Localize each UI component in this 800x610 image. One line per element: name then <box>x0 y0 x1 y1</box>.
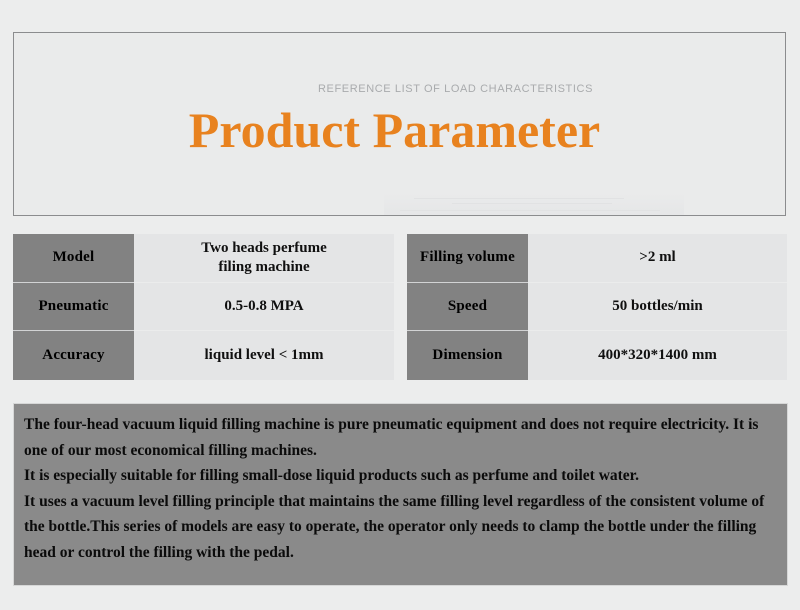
table-row: Model Two heads perfume filing machine <box>13 234 394 283</box>
banner-decoration-line <box>414 198 624 199</box>
spec-label-model: Model <box>13 234 134 283</box>
spec-table-left: Model Two heads perfume filing machine P… <box>13 234 394 380</box>
banner-inner: REFERENCE LIST OF LOAD CHARACTERISTICS P… <box>14 33 785 215</box>
spec-value-filling-volume: >2 ml <box>528 234 787 283</box>
spec-value-accuracy: liquid level < 1mm <box>134 331 394 380</box>
spec-value-model-line2: filing machine <box>201 258 327 277</box>
spec-label-speed: Speed <box>407 283 528 332</box>
description-paragraph-2: It is especially suitable for filling sm… <box>24 463 777 489</box>
banner-decoration-line <box>452 203 612 204</box>
table-row: Filling volume >2 ml <box>407 234 787 283</box>
spec-value-dimension: 400*320*1400 mm <box>528 331 787 380</box>
spec-label-accuracy: Accuracy <box>13 331 134 380</box>
banner-decoration-line <box>400 210 660 211</box>
table-row: Speed 50 bottles/min <box>407 283 787 332</box>
table-row: Accuracy liquid level < 1mm <box>13 331 394 380</box>
banner-subtitle: REFERENCE LIST OF LOAD CHARACTERISTICS <box>14 83 785 95</box>
product-description-box: The four-head vacuum liquid filling mach… <box>13 403 788 586</box>
spec-value-pneumatic: 0.5-0.8 MPA <box>134 283 394 332</box>
table-row: Dimension 400*320*1400 mm <box>407 331 787 380</box>
page-title: Product Parameter <box>14 103 785 158</box>
description-paragraph-1: The four-head vacuum liquid filling mach… <box>24 412 777 463</box>
spec-label-filling-volume: Filling volume <box>407 234 528 283</box>
spec-label-pneumatic: Pneumatic <box>13 283 134 332</box>
specifications-section: Model Two heads perfume filing machine P… <box>0 234 800 380</box>
banner-decoration-glow <box>384 193 684 216</box>
spec-table-right: Filling volume >2 ml Speed 50 bottles/mi… <box>407 234 787 380</box>
spec-value-model-line1: Two heads perfume <box>201 239 327 258</box>
product-parameter-banner: REFERENCE LIST OF LOAD CHARACTERISTICS P… <box>13 32 786 216</box>
table-row: Pneumatic 0.5-0.8 MPA <box>13 283 394 332</box>
spec-label-dimension: Dimension <box>407 331 528 380</box>
spec-value-model: Two heads perfume filing machine <box>134 234 394 283</box>
spec-value-speed: 50 bottles/min <box>528 283 787 332</box>
description-paragraph-3: It uses a vacuum level filling principle… <box>24 489 777 566</box>
